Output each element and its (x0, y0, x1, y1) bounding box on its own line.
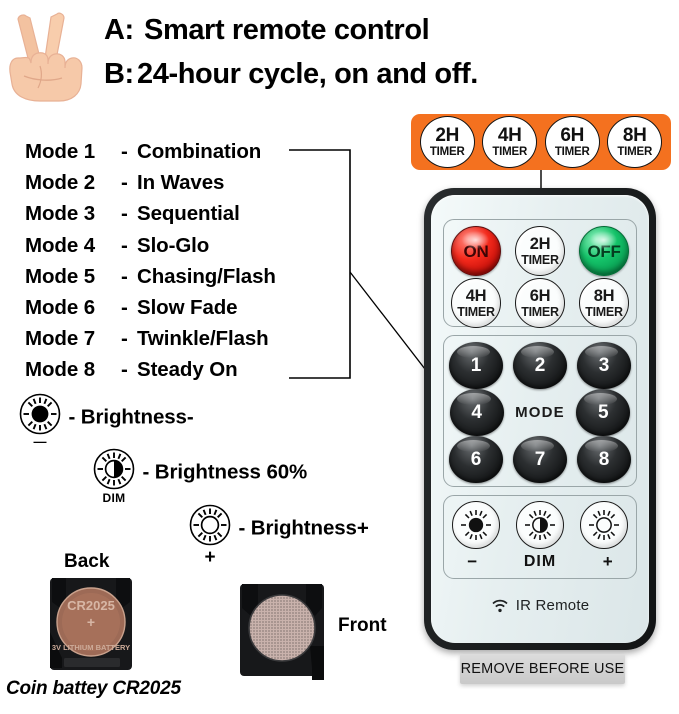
mode-name: Slow Fade (137, 296, 237, 319)
mode-button-label: 4 (471, 403, 482, 422)
mode-name: Slo-Glo (137, 234, 209, 257)
battery-back-image: CR2025 + 3V LITHIUM BATTERY (36, 572, 146, 676)
mode-button-label: 8 (599, 450, 610, 469)
battery-caption: Coin battey CR2025 (6, 678, 181, 700)
battery-spec-text: 3V LITHIUM BATTERY (52, 643, 130, 652)
mode-button-6[interactable]: 6 (449, 436, 503, 483)
battery-model-text: CR2025 (67, 598, 115, 613)
mode-pad-row-3: 6 7 8 (444, 436, 636, 483)
timer-2h-button[interactable]: 2H TIMER (515, 226, 565, 276)
timer-8h-button[interactable]: 8H TIMER (579, 278, 629, 328)
mode-number: Mode 8 (25, 354, 121, 385)
mode-pad-row-1: 1 2 3 (444, 342, 636, 389)
mode-dash: - (121, 261, 137, 292)
list-item: Mode 2-In Waves (25, 167, 315, 198)
header-text: A:Smart remote control B:24-hour cycle, … (104, 8, 664, 96)
mode-name: Twinkle/Flash (137, 327, 269, 350)
timer-word: TIMER (457, 306, 494, 319)
power-button-group: ON 2H TIMER OFF 4H TIMER (443, 219, 637, 327)
remove-before-use-label: REMOVE BEFORE USE (461, 661, 625, 677)
remote-footer: IR Remote (431, 597, 649, 614)
list-item: Mode 8-Steady On (25, 354, 315, 385)
brightness-plus-mark: + (186, 547, 234, 569)
mode-button-5[interactable]: 5 (576, 389, 630, 436)
dim-plus-label: + (603, 552, 613, 572)
mode-button-2[interactable]: 2 (513, 342, 567, 389)
mode-number: Mode 1 (25, 136, 121, 167)
mode-button-label: 6 (471, 450, 482, 469)
timer-word: TIMER (521, 306, 558, 319)
mode-number: Mode 7 (25, 323, 121, 354)
mode-list: Mode 1-Combination Mode 2-In Waves Mode … (25, 136, 315, 386)
list-item: Mode 7-Twinkle/Flash (25, 323, 315, 354)
dim-down-button[interactable] (452, 501, 500, 549)
mode-button-3[interactable]: 3 (577, 342, 631, 389)
chip-word: TIMER (492, 147, 527, 159)
brightness-plus-label: - Brightness+ (238, 517, 368, 540)
dim-row (444, 501, 636, 549)
timer-4h-button[interactable]: 4H TIMER (451, 278, 501, 328)
mode-name: Chasing/Flash (137, 265, 276, 288)
chip-word: TIMER (617, 147, 652, 159)
ir-signal-icon (491, 598, 509, 613)
timer-callout-bar: 2H TIMER 4H TIMER 6H TIMER 8H TIMER (411, 114, 671, 170)
mode-button-label: 1 (471, 356, 482, 375)
list-item: Mode 3-Sequential (25, 198, 315, 229)
mode-name: Sequential (137, 202, 240, 225)
mode-pad-row-2: 4 MODE 5 (444, 389, 636, 436)
mode-button-label: 5 (598, 403, 609, 422)
brightness-legend-item-plus: + - Brightness+ (186, 503, 369, 554)
mode-button-label: 7 (535, 450, 546, 469)
power-row: ON 2H TIMER OFF (444, 226, 636, 276)
dim-minus-label: − (467, 552, 477, 572)
dim-up-button[interactable] (580, 501, 628, 549)
header-line-b-key: B: (104, 52, 137, 96)
callout-chip-2h: 2H TIMER (420, 116, 475, 168)
header-line-b-text: 24-hour cycle, on and off. (137, 58, 478, 90)
instruction-sheet: A:Smart remote control B:24-hour cycle, … (0, 0, 679, 714)
list-item: Mode 4-Slo-Glo (25, 230, 315, 261)
list-item: Mode 1-Combination (25, 136, 315, 167)
mode-button-label: 2 (535, 356, 546, 375)
mode-dash: - (121, 198, 137, 229)
mode-dash: - (121, 292, 137, 323)
timer-word: TIMER (585, 306, 622, 319)
sun-half-icon (520, 505, 560, 545)
sun-filled-icon (456, 505, 496, 545)
mode-button-group: 1 2 3 4 MODE 5 6 7 8 (443, 335, 637, 487)
chip-word: TIMER (430, 147, 465, 159)
mode-number: Mode 4 (25, 230, 121, 261)
chip-hours: 2H (435, 126, 459, 145)
battery-front-label: Front (338, 615, 387, 637)
dim-mid-button[interactable] (516, 501, 564, 549)
mode-number: Mode 3 (25, 198, 121, 229)
on-button-label: ON (464, 243, 489, 260)
mode-dash: - (121, 136, 137, 167)
mode-pad-title: MODE (515, 404, 565, 421)
remote-control: ON 2H TIMER OFF 4H TIMER (424, 188, 656, 650)
header-line-a-text: Smart remote control (144, 14, 429, 46)
header-line-a-key: A: (104, 8, 144, 52)
mode-dash: - (121, 167, 137, 198)
mode-name: Combination (137, 140, 261, 163)
battery-front-image (226, 576, 338, 684)
mode-dash: - (121, 323, 137, 354)
dim-button-group: − DIM + (443, 495, 637, 579)
mode-button-8[interactable]: 8 (577, 436, 631, 483)
sun-outline-icon (584, 505, 624, 545)
timer-hours: 2H (530, 236, 551, 253)
mode-name: Steady On (137, 358, 238, 381)
header-line-b: B:24-hour cycle, on and off. (104, 52, 664, 96)
off-button[interactable]: OFF (579, 226, 629, 276)
brightness-minus-mark: — (16, 434, 64, 449)
mode-number: Mode 5 (25, 261, 121, 292)
chip-hours: 4H (498, 126, 522, 145)
off-button-label: OFF (587, 243, 620, 260)
ir-remote-label: IR Remote (516, 597, 590, 614)
header-line-a: A:Smart remote control (104, 8, 664, 52)
dim-word-label: DIM (524, 553, 556, 571)
mode-name: In Waves (137, 171, 224, 194)
sun-half-icon: DIM (90, 447, 138, 498)
brightness-minus-label: - Brightness- (68, 406, 193, 429)
timer-hours: 4H (466, 288, 487, 305)
mode-dash: - (121, 230, 137, 261)
chip-hours: 6H (560, 126, 584, 145)
on-button[interactable]: ON (451, 226, 501, 276)
callout-chip-6h: 6H TIMER (545, 116, 600, 168)
sun-outline-icon: + (186, 503, 234, 554)
brightness-legend-item-dim: DIM - Brightness 60% (90, 447, 307, 498)
chip-hours: 8H (623, 126, 647, 145)
timer-6h-button[interactable]: 6H TIMER (515, 278, 565, 328)
battery-polarity-text: + (87, 614, 95, 630)
mode-number: Mode 2 (25, 167, 121, 198)
chip-word: TIMER (555, 147, 590, 159)
remote-face: ON 2H TIMER OFF 4H TIMER (431, 195, 649, 643)
mode-button-4[interactable]: 4 (450, 389, 504, 436)
timer-row: 4H TIMER 6H TIMER 8H TIMER (444, 278, 636, 328)
timer-word: TIMER (521, 254, 558, 267)
mode-button-1[interactable]: 1 (449, 342, 503, 389)
callout-chip-4h: 4H TIMER (482, 116, 537, 168)
dim-label-row: − DIM + (444, 552, 636, 572)
callout-chip-8h: 8H TIMER (607, 116, 662, 168)
sun-filled-icon: — (16, 392, 64, 443)
timer-hours: 8H (594, 288, 615, 305)
mode-button-label: 3 (599, 356, 610, 375)
mode-number: Mode 6 (25, 292, 121, 323)
battery-back-label: Back (64, 551, 109, 573)
brightness-legend-item-minus: — - Brightness- (16, 392, 194, 443)
timer-hours: 6H (530, 288, 551, 305)
victory-hand-emoji (4, 6, 96, 102)
mode-button-7[interactable]: 7 (513, 436, 567, 483)
brightness-dim-label: - Brightness 60% (142, 461, 307, 484)
remove-before-use-tab[interactable]: REMOVE BEFORE USE (460, 654, 625, 684)
list-item: Mode 5-Chasing/Flash (25, 261, 315, 292)
dim-sub-label: DIM (90, 491, 138, 505)
list-item: Mode 6-Slow Fade (25, 292, 315, 323)
mode-dash: - (121, 354, 137, 385)
